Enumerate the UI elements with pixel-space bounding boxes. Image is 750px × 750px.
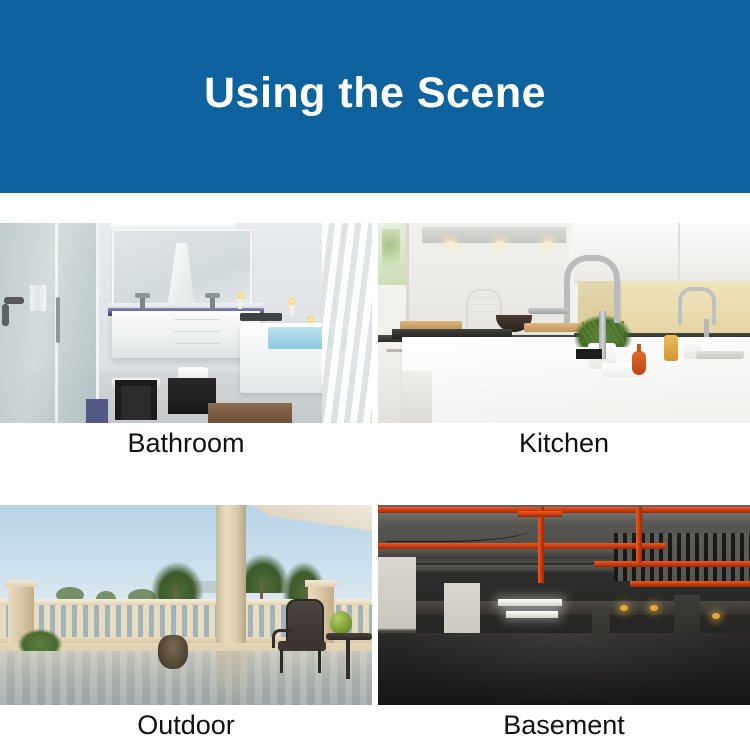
bathtub-faucet [240, 313, 282, 321]
basement-lamp-1 [620, 605, 628, 611]
basement-pipe-middle [378, 543, 666, 549]
basement-pipe-drop-right [636, 507, 642, 563]
kitchen-tray [696, 351, 744, 359]
page-title: Using the Scene [204, 72, 546, 115]
header-banner: Using the Scene [0, 0, 750, 193]
scene-label-basement: Basement [378, 705, 750, 746]
basement-ceiling-light-1 [498, 599, 562, 606]
outdoor-column [216, 505, 246, 655]
kitchen-white-object [602, 363, 636, 377]
kitchen-faucet-arc [564, 255, 620, 323]
bathroom-faucet-right [210, 297, 215, 310]
shower-head-icon [4, 297, 24, 304]
bathroom-photo [0, 223, 372, 423]
basement-ceiling-light-2 [506, 611, 558, 618]
outdoor-chair-leg-right [318, 649, 321, 673]
basement-pipe-fitting [518, 511, 562, 517]
outdoor-palm-1 [150, 561, 204, 601]
outdoor-chair-leg-left [280, 649, 283, 673]
kitchen-secondary-faucet [678, 287, 716, 325]
scene-label-outdoor: Outdoor [0, 705, 372, 746]
bathroom-bottles [30, 285, 46, 311]
outdoor-garden-urn [158, 635, 188, 669]
bathroom-shower-curtain [322, 223, 372, 423]
kitchen-faucet-spout [528, 308, 570, 314]
basement-pipe-right [594, 561, 750, 567]
kitchen-cabinet-divider [678, 223, 680, 281]
bathroom-stool [115, 380, 157, 420]
outdoor-side-table [326, 633, 372, 681]
scene-cell-outdoor[interactable]: Outdoor [0, 505, 372, 746]
vanity-drawer-line-3 [174, 343, 220, 345]
shower-handle-bar [56, 297, 60, 343]
basement-pipe-top [378, 507, 750, 513]
scene-usage-page: Using the Scene [0, 0, 750, 750]
outdoor-column-reflection [216, 651, 246, 703]
basement-photo [378, 505, 750, 705]
kitchen-amber-bottle [664, 335, 678, 361]
kitchen-secondary-faucet-stem [704, 319, 709, 337]
basement-pipe-drop-center [538, 507, 544, 583]
hood-light-icon-2 [496, 241, 505, 246]
vanity-drawer-line-1 [174, 319, 220, 321]
scene-cell-bathroom[interactable]: Bathroom [0, 223, 372, 464]
outdoor-decorative-ball [330, 611, 352, 635]
scene-label-kitchen: Kitchen [378, 423, 750, 464]
vanity-drawer-line-2 [174, 331, 220, 333]
kitchen-orange-bottle [632, 351, 646, 375]
vanity-divider [170, 311, 171, 359]
basement-lamp-3 [712, 613, 720, 619]
scene-cell-kitchen[interactable]: Kitchen [378, 223, 750, 464]
bathroom-blue-object [86, 399, 108, 423]
bathroom-candle-2 [238, 299, 242, 309]
bathroom-vanity-cabinet [112, 311, 260, 358]
outdoor-shrub [18, 629, 62, 651]
candle-flame-icon-2 [237, 291, 244, 300]
bathroom-candle-1 [290, 305, 294, 315]
scene-row-top: Bathroom [0, 223, 750, 464]
candle-flame-icon-3 [307, 315, 314, 324]
bathroom-shower-enclosure [0, 223, 99, 423]
basement-pipe-lower-right [630, 581, 750, 587]
candle-flame-icon-1 [288, 297, 295, 306]
bathroom-floor-mat [208, 403, 292, 423]
kitchen-dark-object [576, 349, 602, 359]
bathroom-faucet-left [140, 297, 145, 310]
kitchen-window [378, 223, 406, 285]
scene-cell-basement[interactable]: Basement [378, 505, 750, 746]
kitchen-range-hood [422, 227, 566, 243]
kitchen-photo [378, 223, 750, 423]
scene-grid: Bathroom [0, 223, 750, 746]
hood-light-icon-1 [446, 241, 455, 246]
basement-lamp-2 [650, 605, 658, 611]
scene-label-bathroom: Bathroom [0, 423, 372, 464]
outdoor-table-leg [346, 639, 350, 679]
basement-duct-grid [614, 533, 750, 581]
outdoor-patio-chair [272, 599, 328, 673]
outdoor-photo [0, 505, 372, 705]
scene-row-bottom: Outdoor [0, 505, 750, 746]
basement-floor-sheen [378, 633, 750, 705]
hood-light-icon-3 [544, 241, 553, 246]
kitchen-island-side [402, 371, 432, 423]
